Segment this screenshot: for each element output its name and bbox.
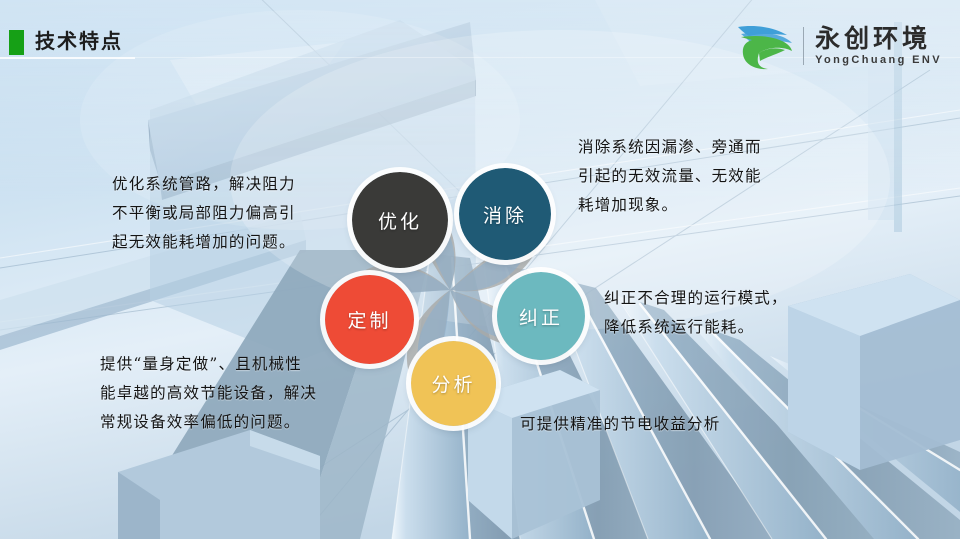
description-fenxi: 可提供精准的节电收益分析 xyxy=(520,410,810,439)
description-jiuzheng: 纠正不合理的运行模式， 降低系统运行能耗。 xyxy=(604,284,819,342)
node-label-xiaochu: 消除 xyxy=(483,201,527,228)
node-label-dingzhi: 定制 xyxy=(347,306,391,333)
header-rule-strong xyxy=(0,57,135,59)
logo-company-name-cn: 永创环境 xyxy=(815,26,942,53)
description-xiaochu: 消除系统因漏渗、旁通而 引起的无效流量、无效能 耗增加现象。 xyxy=(578,133,808,220)
company-logo: 永创环境 YongChuang ENV xyxy=(735,20,942,72)
slide-root: 优化 消除 定制 纠正 分析 优化系统管路，解决阻力 不平衡或局部阻力偏高引 起… xyxy=(0,0,960,539)
node-circle-youhua[interactable]: 优化 xyxy=(352,172,448,268)
logo-company-name-en: YongChuang ENV xyxy=(815,53,942,67)
node-label-jiuzheng: 纠正 xyxy=(519,303,563,330)
logo-divider xyxy=(803,27,804,65)
node-circle-xiaochu[interactable]: 消除 xyxy=(459,168,551,260)
description-youhua: 优化系统管路，解决阻力 不平衡或局部阻力偏高引 起无效能耗增加的问题。 xyxy=(112,170,362,257)
node-label-fenxi: 分析 xyxy=(431,370,475,397)
logo-leaf-icon xyxy=(735,21,795,71)
node-circle-jiuzheng[interactable]: 纠正 xyxy=(497,272,585,360)
page-title: 技术特点 xyxy=(35,28,123,56)
description-dingzhi: 提供“量身定做”、且机械性 能卓越的高效节能设备，解决 常规设备效率偏低的问题。 xyxy=(100,350,360,437)
logo-text: 永创环境 YongChuang ENV xyxy=(815,26,942,67)
node-label-youhua: 优化 xyxy=(378,207,422,234)
node-circle-fenxi[interactable]: 分析 xyxy=(411,341,496,426)
header-green-square-icon xyxy=(9,30,24,55)
